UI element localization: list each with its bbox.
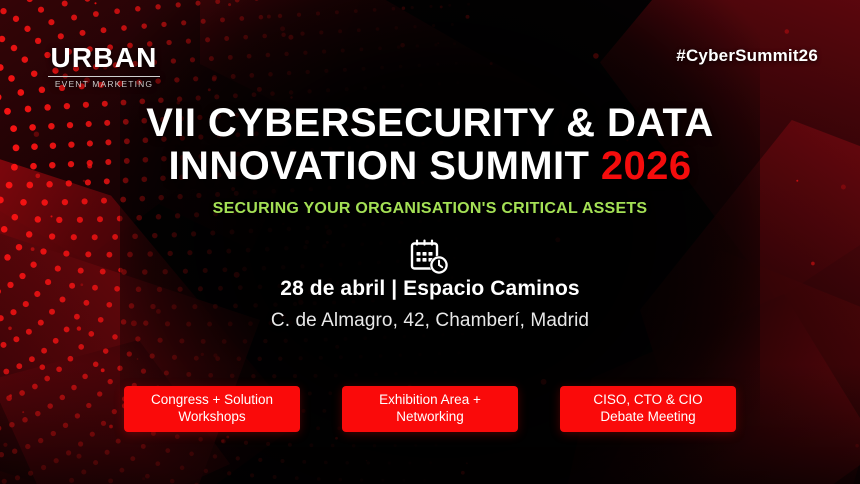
event-hashtag: #CyberSummit26 — [676, 46, 818, 66]
event-title: VII CYBERSECURITY & DATA INNOVATION SUMM… — [0, 102, 860, 188]
badge-line-2: Workshops — [178, 409, 245, 424]
logo-divider — [48, 76, 160, 77]
event-subtitle: SECURING YOUR ORGANISATION'S CRITICAL AS… — [0, 200, 860, 218]
title-line-1: VII CYBERSECURITY & DATA — [0, 102, 860, 145]
urban-logo: URBAN EVENT MARKETING — [48, 44, 160, 89]
logo-wordmark: URBAN — [48, 44, 160, 72]
badge-line-2: Networking — [396, 409, 464, 424]
badge-congress-workshops[interactable]: Congress + SolutionWorkshops — [124, 386, 300, 432]
title-line-2-text: INNOVATION SUMMIT — [169, 144, 601, 188]
badge-exhibition-networking[interactable]: Exhibition Area +Networking — [342, 386, 518, 432]
badge-line-1: Exhibition Area + — [379, 392, 481, 407]
badge-line-1: CISO, CTO & CIO — [593, 392, 702, 407]
badge-ciso-cto-cio-debate[interactable]: CISO, CTO & CIODebate Meeting — [560, 386, 736, 432]
event-date: 28 de abril | Espacio Caminos — [0, 277, 860, 301]
calendar-clock-icon — [408, 238, 452, 278]
title-year: 2026 — [601, 144, 692, 188]
logo-tagline: EVENT MARKETING — [48, 80, 160, 89]
event-poster: URBAN EVENT MARKETING #CyberSummit26 VII… — [0, 0, 860, 484]
title-line-2: INNOVATION SUMMIT 2026 — [0, 145, 860, 188]
poster-content: URBAN EVENT MARKETING #CyberSummit26 VII… — [0, 0, 860, 484]
badge-line-2: Debate Meeting — [600, 409, 695, 424]
badge-line-1: Congress + Solution — [151, 392, 273, 407]
event-venue-address: C. de Almagro, 42, Chamberí, Madrid — [0, 310, 860, 332]
event-badges: Congress + SolutionWorkshops Exhibition … — [0, 386, 860, 432]
